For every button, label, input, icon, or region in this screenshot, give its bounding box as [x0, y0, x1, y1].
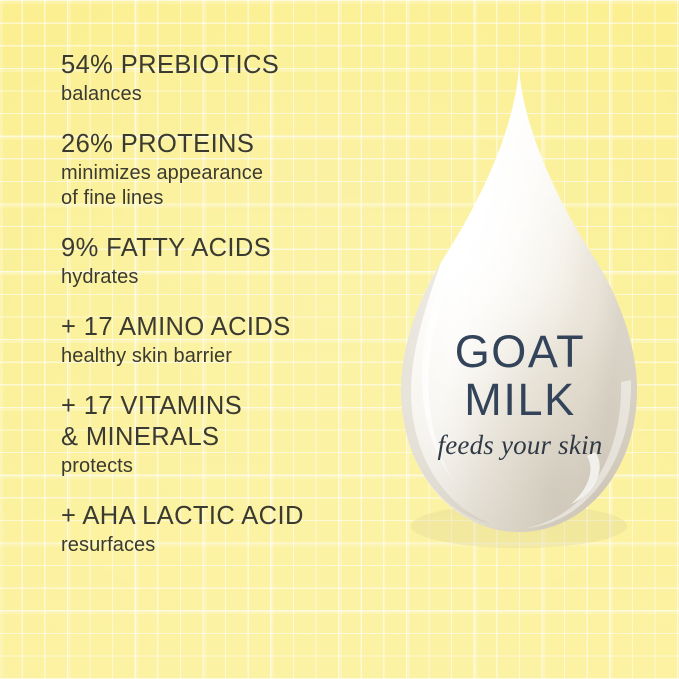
droplet-icon	[381, 60, 659, 550]
milk-droplet-graphic: GOAT MILK feeds your skin	[381, 60, 659, 550]
benefit-subtext: minimizes appearance of fine lines	[61, 161, 371, 211]
benefit-headline: + 17 VITAMINS & MINERALS	[61, 391, 371, 453]
benefit-headline: + 17 AMINO ACIDS	[61, 312, 371, 343]
benefit-headline: 9% FATTY ACIDS	[61, 233, 371, 264]
benefits-list: 54% PREBIOTICS balances 26% PROTEINS min…	[61, 50, 371, 580]
benefit-item: + AHA LACTIC ACID resurfaces	[61, 501, 371, 558]
benefit-headline: 54% PREBIOTICS	[61, 50, 371, 81]
benefit-subtext: balances	[61, 82, 371, 107]
benefit-headline: + AHA LACTIC ACID	[61, 501, 371, 532]
benefit-item: 9% FATTY ACIDS hydrates	[61, 233, 371, 290]
benefit-subtext: resurfaces	[61, 533, 371, 558]
benefit-subtext: protects	[61, 454, 371, 479]
benefit-headline: 26% PROTEINS	[61, 129, 371, 160]
benefit-item: + 17 VITAMINS & MINERALS protects	[61, 391, 371, 479]
benefit-subtext: healthy skin barrier	[61, 344, 371, 369]
product-benefits-graphic: 54% PREBIOTICS balances 26% PROTEINS min…	[0, 0, 679, 679]
benefit-item: 26% PROTEINS minimizes appearance of fin…	[61, 129, 371, 211]
benefit-item: 54% PREBIOTICS balances	[61, 50, 371, 107]
benefit-item: + 17 AMINO ACIDS healthy skin barrier	[61, 312, 371, 369]
benefit-subtext: hydrates	[61, 265, 371, 290]
